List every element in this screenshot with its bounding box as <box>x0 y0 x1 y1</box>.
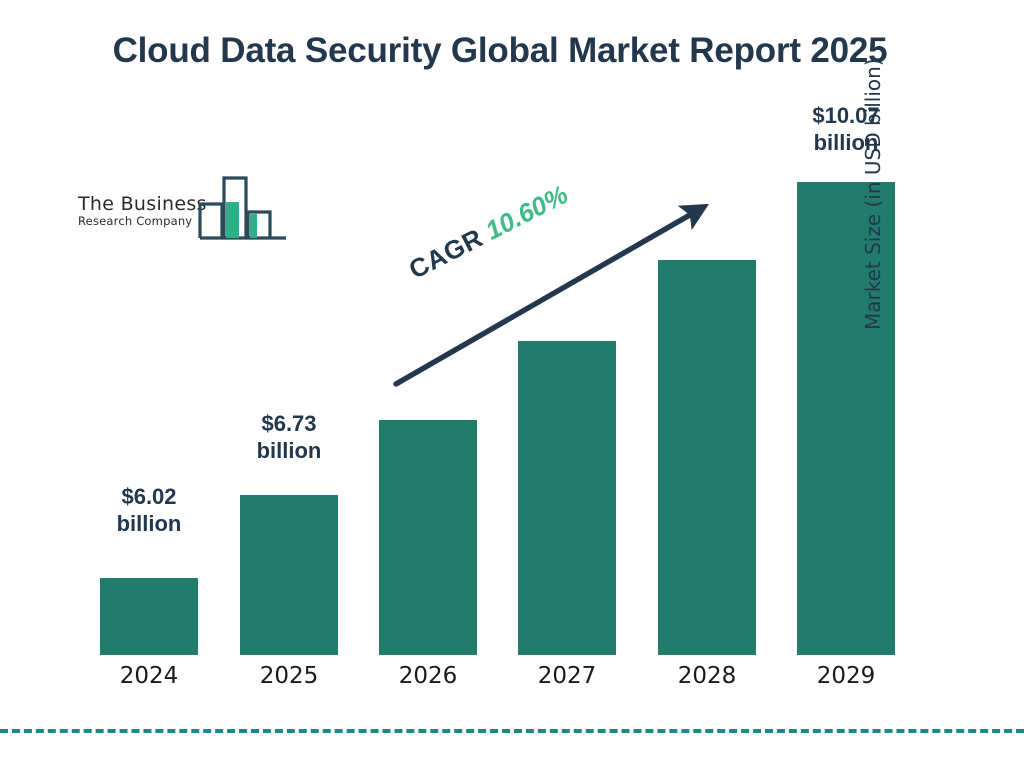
chart-canvas: Cloud Data Security Global Market Report… <box>0 0 1024 768</box>
y-axis-title: Market Size (in USD billion) <box>861 0 885 330</box>
footer-divider <box>0 729 1024 733</box>
plot-area: $6.02 billion $6.73 billion $10.07 billi… <box>0 0 1024 768</box>
